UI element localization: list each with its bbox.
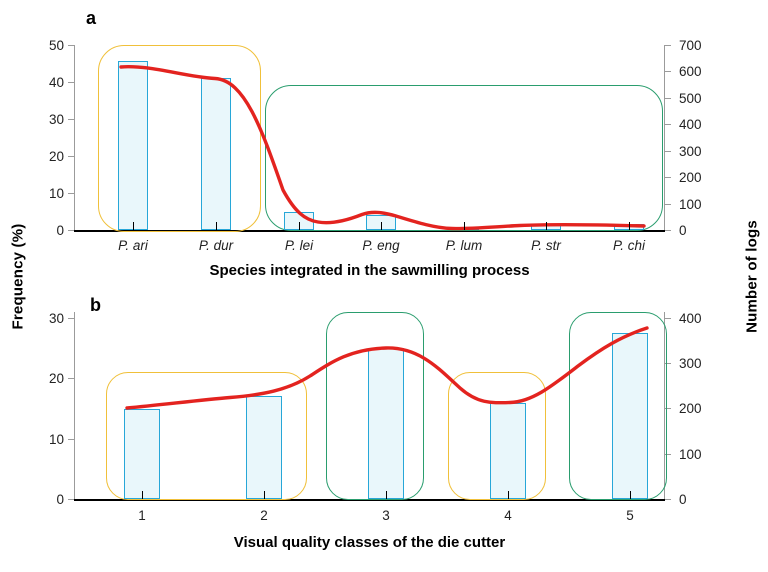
bar-class-1 — [124, 409, 160, 500]
panel-a-xticklabel-p-chi: P. chi — [589, 238, 669, 253]
panel-b-letter: b — [90, 295, 101, 316]
panel-b-left-ticklabel-30: 30 — [22, 311, 64, 326]
panel-a-xtick-6 — [546, 222, 547, 230]
panel-a-right-tick-600 — [665, 71, 671, 72]
panel-b-right-tick-0 — [665, 499, 671, 500]
bar-p-dur — [201, 78, 231, 230]
panel-a-group-box-green — [265, 85, 663, 231]
panel-a-left-tick-30 — [68, 119, 74, 120]
panel-b-x-axis-title: Visual quality classes of the die cutter — [74, 534, 665, 551]
panel-b-xtick-4 — [508, 491, 509, 499]
panel-a-left-ticklabel-20: 20 — [22, 149, 64, 164]
panel-a-left-ticklabel-30: 30 — [22, 112, 64, 127]
panel-a-xtick-3 — [299, 222, 300, 230]
panel-a-xtick-1 — [133, 222, 134, 230]
panel-b-right-ticklabel-300: 300 — [679, 356, 725, 371]
panel-a-left-tick-40 — [68, 82, 74, 83]
panel-b-left-tick-0 — [68, 499, 74, 500]
panel-a-xtick-2 — [216, 222, 217, 230]
bar-class-2 — [246, 396, 282, 499]
panel-b-right-ticklabel-200: 200 — [679, 401, 725, 416]
panel-b-left-ticklabel-20: 20 — [22, 371, 64, 386]
panel-b-right-ticklabel-400: 400 — [679, 311, 725, 326]
panel-a-left-tick-10 — [68, 193, 74, 194]
panel-a-right-ticklabel-0: 0 — [679, 223, 725, 238]
panel-a-left-ticklabel-40: 40 — [22, 75, 64, 90]
panel-b: b 30 20 10 0 400 300 200 100 0 — [0, 286, 768, 572]
panel-a-right-tick-100 — [665, 204, 671, 205]
figure-canvas: Frequency (%) Number of logs a 50 40 30 … — [0, 0, 768, 572]
panel-a-xticklabel-p-lei: P. lei — [259, 238, 339, 253]
panel-a-letter: a — [86, 8, 96, 29]
panel-a-xticklabel-p-eng: P. eng — [341, 238, 421, 253]
panel-a-left-tick-20 — [68, 156, 74, 157]
panel-a-right-ticklabel-100: 100 — [679, 197, 725, 212]
panel-a-right-tick-500 — [665, 98, 671, 99]
panel-a-xticklabel-p-dur: P. dur — [176, 238, 256, 253]
panel-a-xtick-4 — [381, 222, 382, 230]
panel-a-right-tick-300 — [665, 151, 671, 152]
panel-b-xticklabel-3: 3 — [356, 508, 416, 523]
panel-a-left-ticklabel-50: 50 — [22, 38, 64, 53]
panel-b-xticklabel-1: 1 — [112, 508, 172, 523]
panel-a-right-ticklabel-500: 500 — [679, 91, 725, 106]
panel-a-x-axis-title: Species integrated in the sawmilling pro… — [74, 262, 665, 279]
bar-class-4 — [490, 403, 526, 500]
bar-p-ari — [118, 61, 148, 230]
panel-a-right-tick-700 — [665, 45, 671, 46]
panel-b-left-tick-10 — [68, 439, 74, 440]
panel-a-right-tick-400 — [665, 124, 671, 125]
panel-b-xtick-3 — [386, 491, 387, 499]
panel-b-left-ticklabel-0: 0 — [22, 492, 64, 507]
panel-a-left-ticklabel-10: 10 — [22, 186, 64, 201]
panel-a-xtick-5 — [464, 222, 465, 230]
panel-b-left-ticklabel-10: 10 — [22, 432, 64, 447]
panel-a: a 50 40 30 20 10 0 700 600 500 400 300 — [0, 0, 768, 286]
bar-class-5 — [612, 333, 648, 499]
panel-b-left-tick-20 — [68, 378, 74, 379]
panel-b-left-axis-line — [74, 312, 75, 499]
panel-a-right-ticklabel-400: 400 — [679, 117, 725, 132]
panel-a-right-tick-200 — [665, 177, 671, 178]
panel-b-xticklabel-2: 2 — [234, 508, 294, 523]
panel-b-left-tick-30 — [68, 318, 74, 319]
panel-b-xtick-1 — [142, 491, 143, 499]
panel-a-right-axis-line — [664, 45, 665, 230]
panel-a-left-axis-line — [74, 45, 75, 230]
bar-class-3 — [368, 348, 404, 499]
panel-a-left-tick-0 — [68, 230, 74, 231]
panel-a-xticklabel-p-ari: P. ari — [93, 238, 173, 253]
panel-a-left-ticklabel-0: 0 — [22, 223, 64, 238]
panel-b-xtick-5 — [630, 491, 631, 499]
panel-b-right-ticklabel-100: 100 — [679, 447, 725, 462]
panel-b-xtick-2 — [264, 491, 265, 499]
panel-b-xticklabel-5: 5 — [600, 508, 660, 523]
panel-b-right-tick-400 — [665, 318, 671, 319]
panel-b-right-ticklabel-0: 0 — [679, 492, 725, 507]
panel-a-right-ticklabel-600: 600 — [679, 64, 725, 79]
panel-a-right-ticklabel-700: 700 — [679, 38, 725, 53]
panel-a-right-tick-0 — [665, 230, 671, 231]
panel-b-xticklabel-4: 4 — [478, 508, 538, 523]
panel-a-xtick-7 — [629, 222, 630, 230]
panel-a-xticklabel-p-str: P. str — [506, 238, 586, 253]
panel-a-right-ticklabel-300: 300 — [679, 144, 725, 159]
panel-a-left-tick-50 — [68, 45, 74, 46]
panel-a-right-ticklabel-200: 200 — [679, 170, 725, 185]
panel-a-xticklabel-p-lum: P. lum — [424, 238, 504, 253]
